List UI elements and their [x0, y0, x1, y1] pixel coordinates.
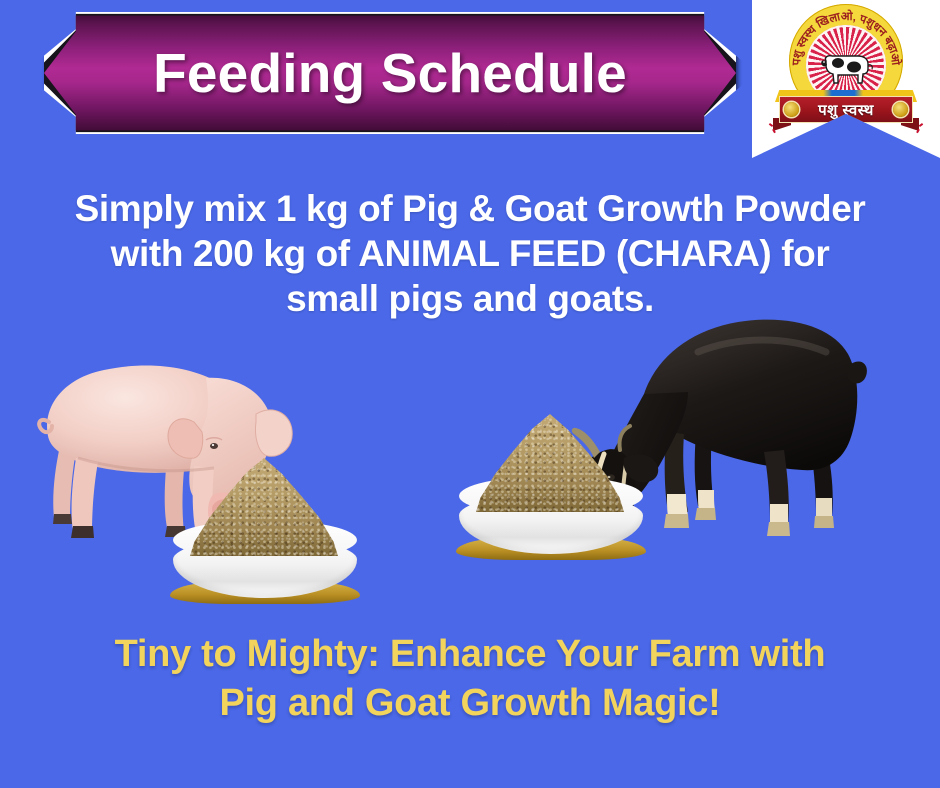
feeding-schedule-poster: Feeding Schedule पशु स्वस्थ खिलाओ, पशुधन…	[0, 0, 940, 788]
logo-ribbon-label: पशु स्वस्थ	[818, 100, 874, 120]
title-banner: Feeding Schedule	[44, 12, 736, 134]
instruction-line-2: with 200 kg of ANIMAL FEED (CHARA) for	[12, 231, 928, 276]
logo-ribbon: पशु स्वस्थ	[775, 88, 917, 132]
pig-illustration	[18, 318, 378, 608]
cow-icon	[818, 47, 874, 87]
page-title: Feeding Schedule	[44, 12, 736, 134]
instruction-line-1: Simply mix 1 kg of Pig & Goat Growth Pow…	[12, 186, 928, 231]
brand-logo-badge: पशु स्वस्थ खिलाओ, पशुधन बढ़ाओ ★ ★	[752, 0, 940, 158]
goat-feed-plate	[456, 472, 646, 560]
logo-spark	[916, 129, 920, 133]
logo-spark	[919, 123, 923, 127]
tagline-text: Tiny to Mighty: Enhance Your Farm with P…	[12, 630, 928, 727]
tagline-line-1: Tiny to Mighty: Enhance Your Farm with	[12, 630, 928, 679]
logo-spark	[769, 123, 773, 127]
goat-illustration	[548, 272, 938, 602]
pig-feed-plate	[170, 516, 360, 604]
logo-medal-left-icon	[784, 102, 799, 117]
tagline-line-2: Pig and Goat Growth Magic!	[12, 679, 928, 728]
logo-medal-right-icon	[893, 102, 908, 117]
